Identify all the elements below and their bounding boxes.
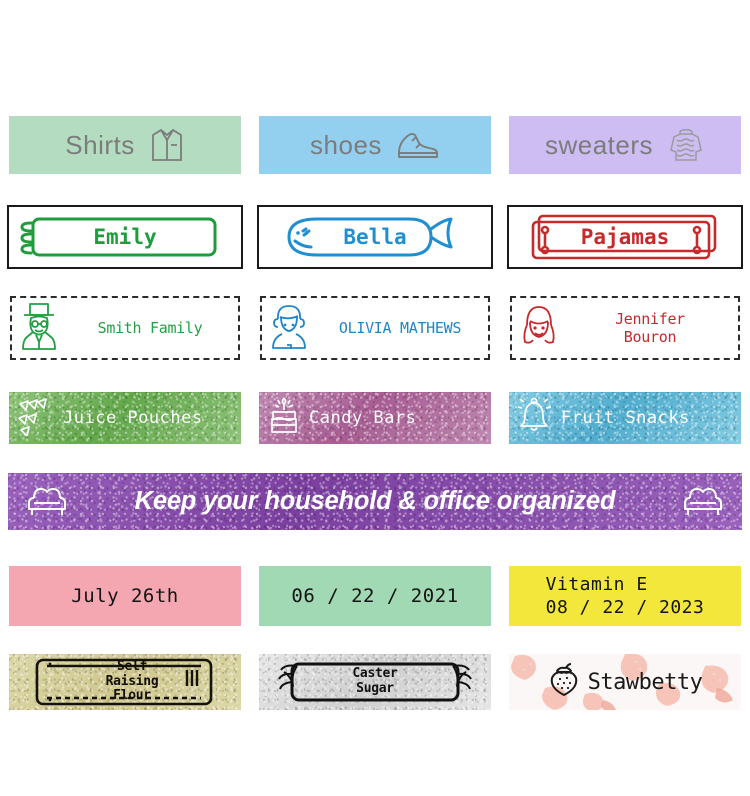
banner-text: Keep your household & office organized	[135, 487, 616, 516]
label-text: Stawbetty	[588, 670, 703, 695]
label-text: Candy Bars	[309, 408, 416, 428]
label-cell: Jennifer Bouron	[500, 296, 750, 360]
label-text-line3: Flour	[113, 688, 151, 703]
label-text: sweaters	[545, 130, 653, 161]
label-smith-family[interactable]: Smith Family	[10, 296, 240, 360]
outline-frame-label-row: Emily Bella	[0, 205, 750, 269]
label-pajamas[interactable]: Pajamas	[507, 205, 743, 269]
label-text: Bella	[259, 207, 491, 267]
pastel-label-row: Shirts shoes	[0, 116, 750, 174]
label-cell: Bella	[250, 205, 500, 269]
label-emily[interactable]: Emily	[7, 205, 243, 269]
label-stawbetty[interactable]: Stawbetty	[509, 654, 741, 710]
bell-icon	[517, 396, 553, 441]
date-label-row: July 26th 06 / 22 / 2021 Vitamin E 08 / …	[0, 566, 750, 626]
label-fruit-snacks[interactable]: Fruit Snacks	[509, 392, 741, 444]
strawberry-icon	[548, 663, 580, 702]
label-cell: Emily	[0, 205, 250, 269]
label-jennifer-bouron[interactable]: Jennifer Bouron	[510, 296, 740, 360]
foil-label-row: Self Raising Flour	[0, 654, 750, 710]
label-text: Shirts	[65, 130, 134, 161]
folded-shirt-icon	[149, 126, 185, 164]
label-sweaters[interactable]: sweaters	[509, 116, 741, 174]
label-juice-pouches[interactable]: Juice Pouches	[9, 392, 241, 444]
label-cell: Smith Family	[0, 296, 250, 360]
label-text-line2: Sugar	[356, 681, 394, 696]
label-july-26th[interactable]: July 26th	[9, 566, 241, 626]
label-bella[interactable]: Bella	[257, 205, 493, 269]
label-text: Emily	[9, 207, 241, 267]
label-cell: July 26th	[0, 566, 250, 626]
bunting-flags-icon	[17, 396, 55, 441]
label-text-line1: Vitamin E	[546, 574, 648, 595]
label-cell: Pajamas	[500, 205, 750, 269]
promo-banner[interactable]: Keep your household & office organized	[8, 473, 742, 530]
label-cell: shoes	[250, 116, 500, 174]
label-text: Vitamin E 08 / 22 / 2023	[546, 573, 705, 620]
label-text: Caster Sugar	[352, 667, 397, 696]
label-text: Jennifer Bouron	[568, 310, 732, 347]
label-cell: OLIVIA MATHEWS	[250, 296, 500, 360]
label-vitamin-e[interactable]: Vitamin E 08 / 22 / 2023	[509, 566, 741, 626]
sweater-icon	[667, 126, 705, 164]
birthday-cake-icon	[267, 396, 301, 441]
label-text: 06 / 22 / 2021	[291, 584, 458, 609]
label-text: Smith Family	[68, 319, 232, 337]
label-cell: Self Raising Flour	[0, 654, 250, 710]
label-shoes[interactable]: shoes	[259, 116, 491, 174]
label-olivia-mathews[interactable]: OLIVIA MATHEWS	[260, 296, 490, 360]
sneaker-icon	[396, 129, 440, 161]
label-text-line1: Jennifer	[615, 310, 685, 328]
label-cell: Vitamin E 08 / 22 / 2023	[500, 566, 750, 626]
label-date-06-22-2021[interactable]: 06 / 22 / 2021	[259, 566, 491, 626]
label-cell: Caster Sugar	[250, 654, 500, 710]
sofa-icon	[680, 480, 726, 523]
label-shirts[interactable]: Shirts	[9, 116, 241, 174]
label-cell: Candy Bars	[250, 392, 500, 444]
label-text: Self Raising Flour	[106, 660, 159, 704]
label-sample-sheet: Shirts shoes	[0, 0, 750, 796]
sofa-icon	[24, 480, 70, 523]
label-content: Self Raising Flour	[9, 654, 241, 710]
label-text-line2: 08 / 22 / 2023	[546, 597, 705, 618]
label-text: OLIVIA MATHEWS	[318, 319, 482, 337]
label-cell: Juice Pouches	[0, 392, 250, 444]
glitter-label-row: Juice Pouches Candy Bars	[0, 392, 750, 444]
label-text-line2: Raising	[106, 674, 159, 689]
label-caster-sugar[interactable]: Caster Sugar	[259, 654, 491, 710]
label-cell: 06 / 22 / 2021	[250, 566, 500, 626]
label-text: Juice Pouches	[63, 408, 203, 428]
label-content: Caster Sugar	[259, 654, 491, 710]
dashed-label-row: Smith Family	[0, 296, 750, 360]
label-candy-bars[interactable]: Candy Bars	[259, 392, 491, 444]
label-text-line1: Self	[117, 659, 147, 674]
label-self-raising-flour[interactable]: Self Raising Flour	[9, 654, 241, 710]
label-text-line2: Bouron	[624, 328, 676, 346]
label-cell: Fruit Snacks	[500, 392, 750, 444]
label-content: Stawbetty	[509, 654, 741, 710]
gentleman-top-hat-icon	[18, 301, 60, 356]
girl-face-icon	[518, 301, 560, 356]
label-text: Pajamas	[509, 207, 741, 267]
label-text: Fruit Snacks	[561, 408, 690, 428]
label-text: July 26th	[71, 584, 178, 609]
boy-face-icon	[268, 301, 310, 356]
label-text-line1: Caster	[352, 666, 397, 681]
label-cell: Stawbetty	[500, 654, 750, 710]
label-cell: Shirts	[0, 116, 250, 174]
label-text: shoes	[310, 130, 382, 161]
label-cell: sweaters	[500, 116, 750, 174]
